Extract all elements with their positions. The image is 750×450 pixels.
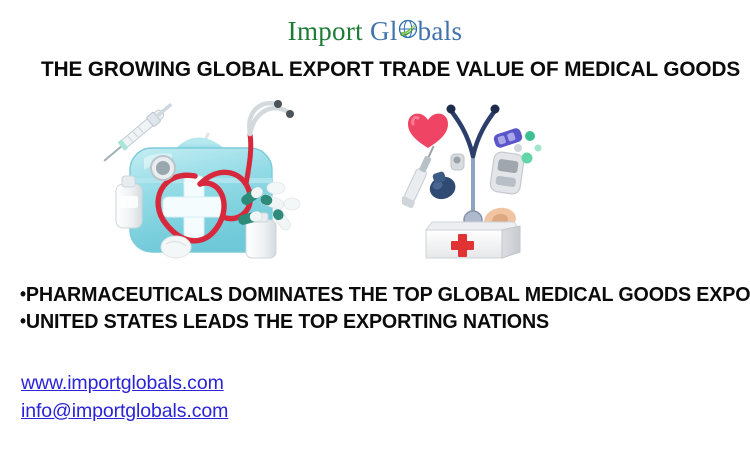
email-link[interactable]: info@importglobals.com — [21, 397, 228, 425]
logo-text-import: Import — [288, 18, 363, 45]
brand-logo[interactable]: Import Gl bals — [0, 18, 750, 45]
slide-canvas: Import Gl bals THE GROWING GLOBAL EXPORT… — [0, 0, 750, 450]
list-item-text: UNITED STATES LEADS THE TOP EXPORTING NA… — [26, 310, 549, 333]
first-aid-box-illustration — [402, 98, 544, 263]
contact-block: www.importglobals.com info@importglobals… — [21, 369, 228, 425]
website-link[interactable]: www.importglobals.com — [21, 369, 228, 397]
logo-text-gl: Gl — [370, 18, 398, 45]
list-item-text: PHARMACEUTICALS DOMINATES THE TOP GLOBAL… — [26, 283, 750, 306]
medical-kit-illustration — [100, 92, 328, 264]
key-points-list: •PHARMACEUTICALS DOMINATES THE TOP GLOBA… — [20, 281, 732, 335]
page-title: THE GROWING GLOBAL EXPORT TRADE VALUE OF… — [41, 57, 697, 82]
list-item: •UNITED STATES LEADS THE TOP EXPORTING N… — [20, 308, 704, 335]
logo-text-bals: bals — [418, 18, 463, 45]
globe-icon — [398, 19, 418, 39]
list-item: •PHARMACEUTICALS DOMINATES THE TOP GLOBA… — [20, 281, 704, 308]
